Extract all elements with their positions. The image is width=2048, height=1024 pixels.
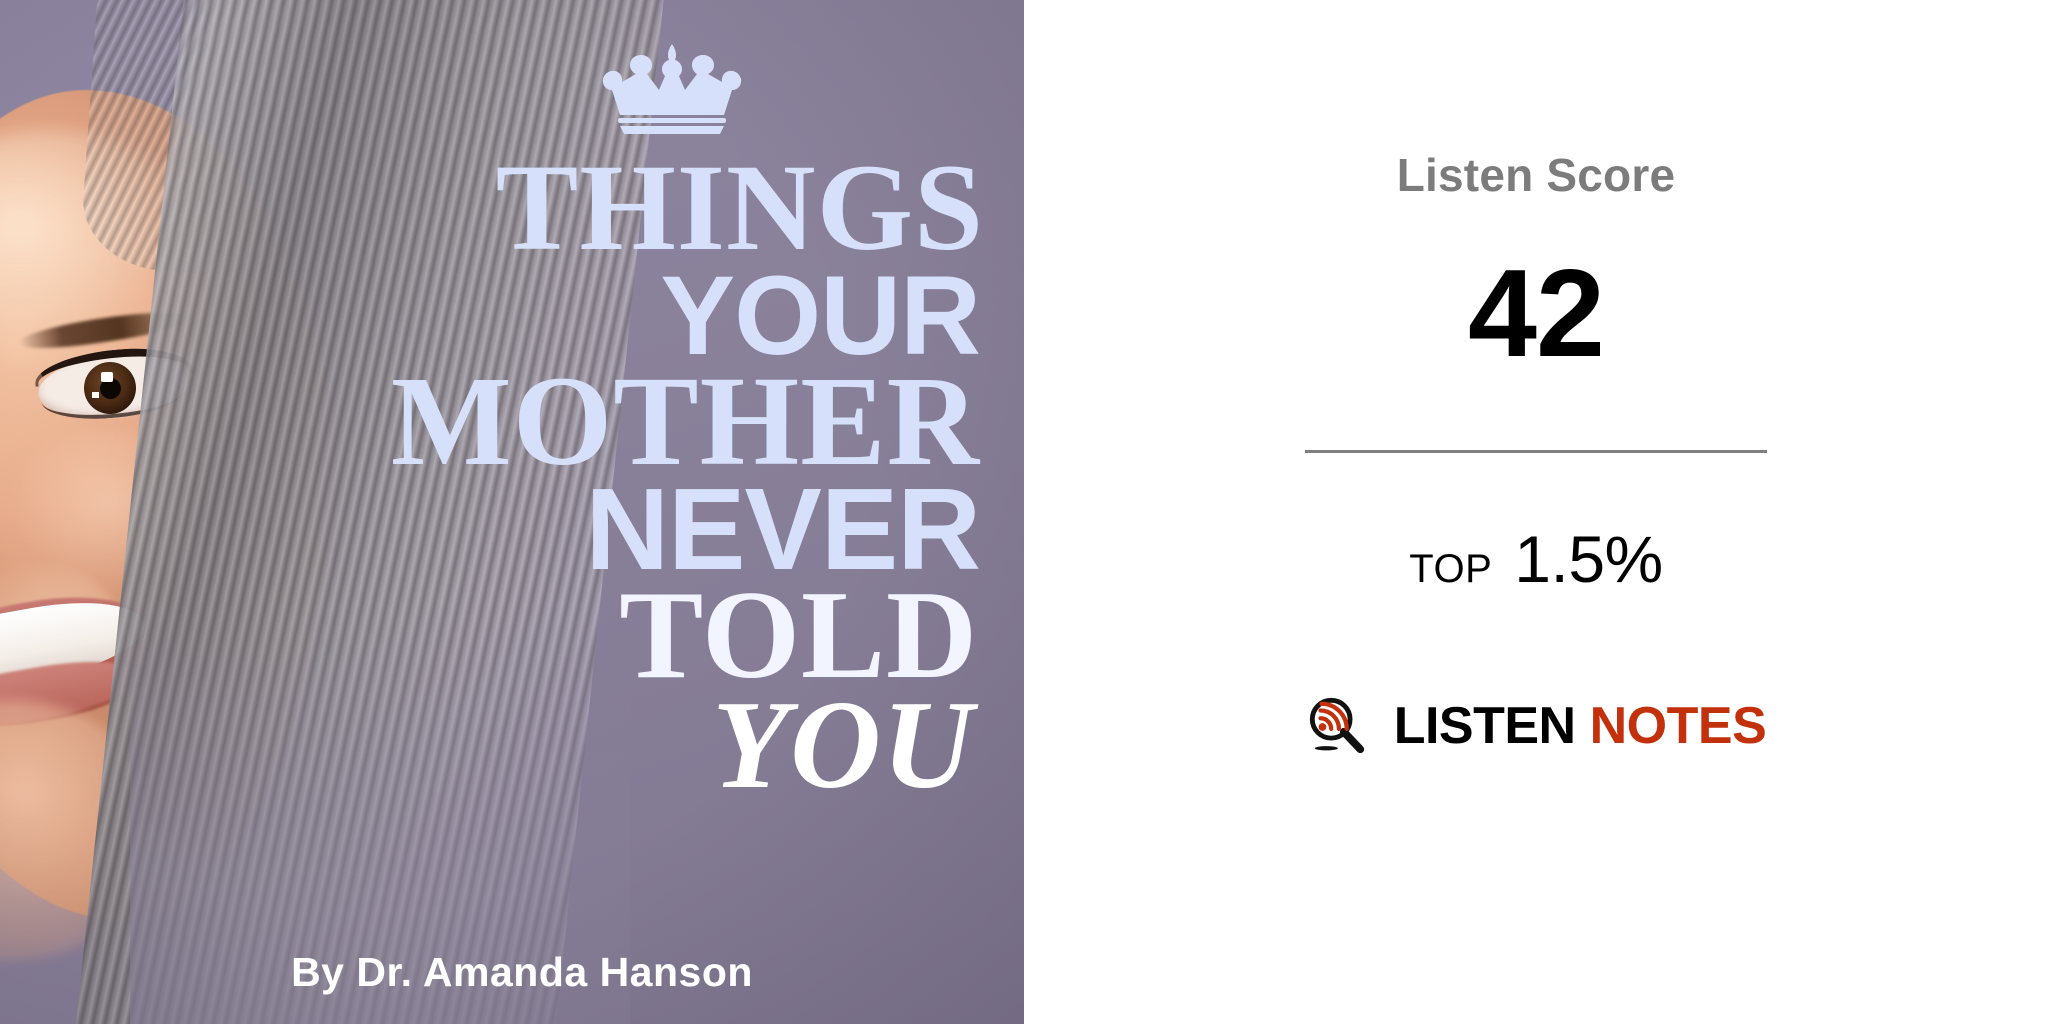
title-line-6: YOU <box>0 692 1000 800</box>
title-line-3: MOTHER <box>0 366 1000 476</box>
title-line-1: THINGS <box>0 155 1000 262</box>
brand-word-listen: LISTEN <box>1394 700 1576 752</box>
podcast-cover-art[interactable]: THINGS YOUR MOTHER NEVER TOLD YOU By Dr.… <box>0 0 1024 1024</box>
listen-score-panel: Listen Score 42 TOP 1.5% LISTEN NOTES <box>1024 0 2048 1024</box>
cover-title: THINGS YOUR MOTHER NEVER TOLD YOU <box>0 155 1024 800</box>
brand-word-notes: NOTES <box>1590 700 1767 752</box>
rank-row: TOP 1.5% <box>1409 521 1662 597</box>
listen-notes-magnifier-rss-icon <box>1306 695 1368 757</box>
listen-notes-logo[interactable]: LISTEN NOTES <box>1306 695 1767 757</box>
rank-percentile-value: 1.5% <box>1514 521 1662 597</box>
score-divider <box>1305 450 1767 453</box>
rank-prefix-label: TOP <box>1409 547 1492 592</box>
listen-score-label: Listen Score <box>1397 152 1676 198</box>
listen-score-card: THINGS YOUR MOTHER NEVER TOLD YOU By Dr.… <box>0 0 2048 1024</box>
cover-byline: By Dr. Amanda Hanson <box>0 949 1024 996</box>
title-line-5: TOLD <box>0 582 1000 690</box>
listen-score-value: 42 <box>1468 252 1604 376</box>
title-line-4: NEVER <box>0 480 1000 580</box>
crown-icon <box>596 42 748 134</box>
